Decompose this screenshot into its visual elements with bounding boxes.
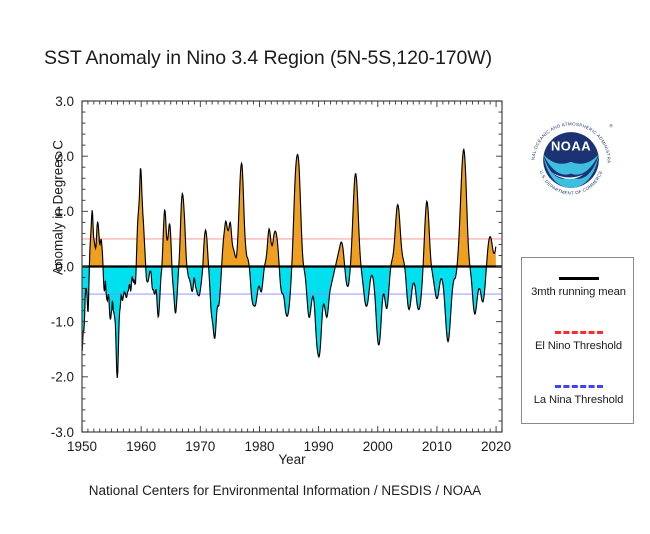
y-axis-tick-label: 3.0 (55, 94, 74, 109)
chart-legend: 3mth running mean El Nino Threshold La N… (521, 257, 634, 424)
x-axis-tick-label: 1950 (67, 439, 97, 454)
footer-caption: National Centers for Environmental Infor… (0, 483, 570, 498)
x-axis-tick-label: 1970 (185, 439, 215, 454)
noaa-logo-acronym: NOAA (551, 138, 591, 153)
x-axis-tick-label: 1980 (244, 439, 274, 454)
x-axis-tick-label: 2010 (422, 439, 452, 454)
legend-entry-el-nino-threshold: El Nino Threshold (522, 326, 635, 352)
x-axis-tick-label: 2000 (363, 439, 393, 454)
noaa-logo: NATIONAL OCEANIC AND ATMOSPHERIC ADMINIS… (523, 112, 619, 208)
legend-entry-running-mean: 3mth running mean (522, 272, 635, 298)
legend-swatch-dashed-blue (539, 380, 619, 392)
y-axis-tick-label: 1.0 (55, 204, 74, 219)
y-axis-tick-label: -2.0 (51, 370, 74, 385)
registered-trademark-icon: ® (609, 122, 613, 129)
y-axis-tick-label: 0.0 (55, 259, 74, 274)
legend-label-el-nino-threshold: El Nino Threshold (522, 340, 635, 352)
legend-swatch-dashed-red (539, 326, 619, 338)
x-axis-tick-label: 2020 (481, 439, 511, 454)
y-axis-tick-label: -3.0 (51, 425, 74, 440)
y-axis-tick-label: 2.0 (55, 149, 74, 164)
chart-page: SST Anomaly in Nino 3.4 Region (5N-5S,12… (0, 0, 650, 534)
legend-swatch-solid-black (539, 272, 619, 284)
x-axis-tick-label: 1960 (126, 439, 156, 454)
y-axis-tick-label: -1.0 (51, 314, 74, 329)
legend-entry-la-nina-threshold: La Nina Threshold (522, 380, 635, 406)
legend-label-running-mean: 3mth running mean (522, 286, 635, 298)
legend-label-la-nina-threshold: La Nina Threshold (522, 394, 635, 406)
x-axis-tick-label: 1990 (304, 439, 334, 454)
